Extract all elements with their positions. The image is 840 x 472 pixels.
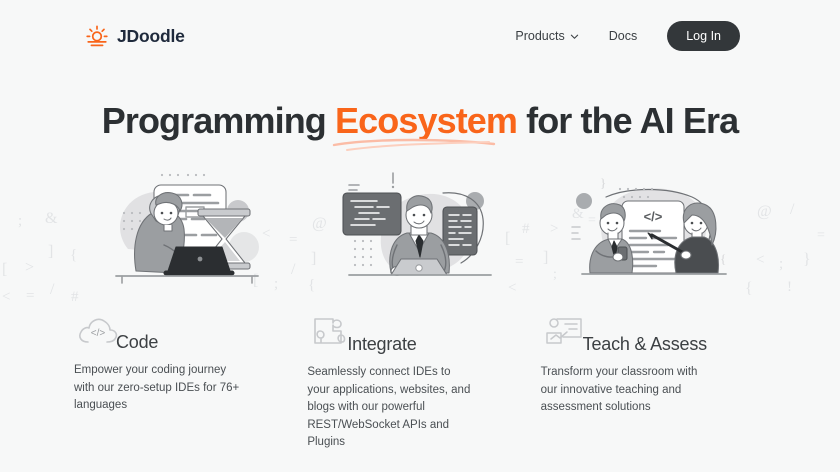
illustration-code [74,167,299,289]
svg-text:}: } [600,175,606,190]
headline-accent-text: Ecosystem [335,100,517,141]
nav-item-docs-label: Docs [609,29,637,43]
login-button[interactable]: Log In [667,21,740,51]
card-header-code: </> Code [74,313,299,349]
feature-card-teach-assess[interactable]: } { </> [541,167,766,451]
headline-part-before: Programming [102,100,335,141]
card-description-integrate: Seamlessly connect IDEs to your applicat… [307,364,475,451]
brand-name: JDoodle [117,26,185,47]
card-title-teach-assess: Teach & Assess [583,334,707,355]
page-title: Programming Ecosystem for the AI Era [0,100,840,141]
hero-section: Programming Ecosystem for the AI Era [0,100,840,141]
presentation-board-icon [543,313,587,351]
card-description-code: Empower your coding journey with our zer… [74,362,242,414]
illustration-integrate [307,167,532,289]
svg-text:</>: </> [644,209,663,224]
site-header: JDoodle Products Docs Log In [0,0,840,72]
nav-item-docs[interactable]: Docs [609,29,637,43]
svg-text:</>: </> [91,328,106,339]
feature-cards: </> Code Empower your coding journey wit… [0,167,840,451]
illustration-teach-assess: } { </> [541,167,766,289]
headline-part-after: for the AI Era [517,100,738,141]
headline-accent-word: Ecosystem [335,100,517,141]
card-title-integrate: Integrate [347,334,416,355]
feature-card-integrate[interactable]: Integrate Seamlessly connect IDEs to you… [307,167,532,451]
svg-text:{: { [720,251,726,266]
brand-logo[interactable]: JDoodle [84,23,185,49]
nav-item-products[interactable]: Products [515,29,578,43]
cloud-code-icon: </> [76,313,120,349]
chevron-down-icon [570,32,579,41]
card-description-teach-assess: Transform your classroom with our innova… [541,364,709,416]
nav-item-products-label: Products [515,29,564,43]
card-header-integrate: Integrate [307,313,532,351]
card-title-code: Code [116,332,158,353]
main-navigation: Products Docs Log In [515,21,740,51]
puzzle-piece-icon [307,313,351,351]
feature-card-code[interactable]: </> Code Empower your coding journey wit… [74,167,299,451]
sunrise-icon [84,23,110,49]
card-header-teach-assess: Teach & Assess [541,313,766,351]
